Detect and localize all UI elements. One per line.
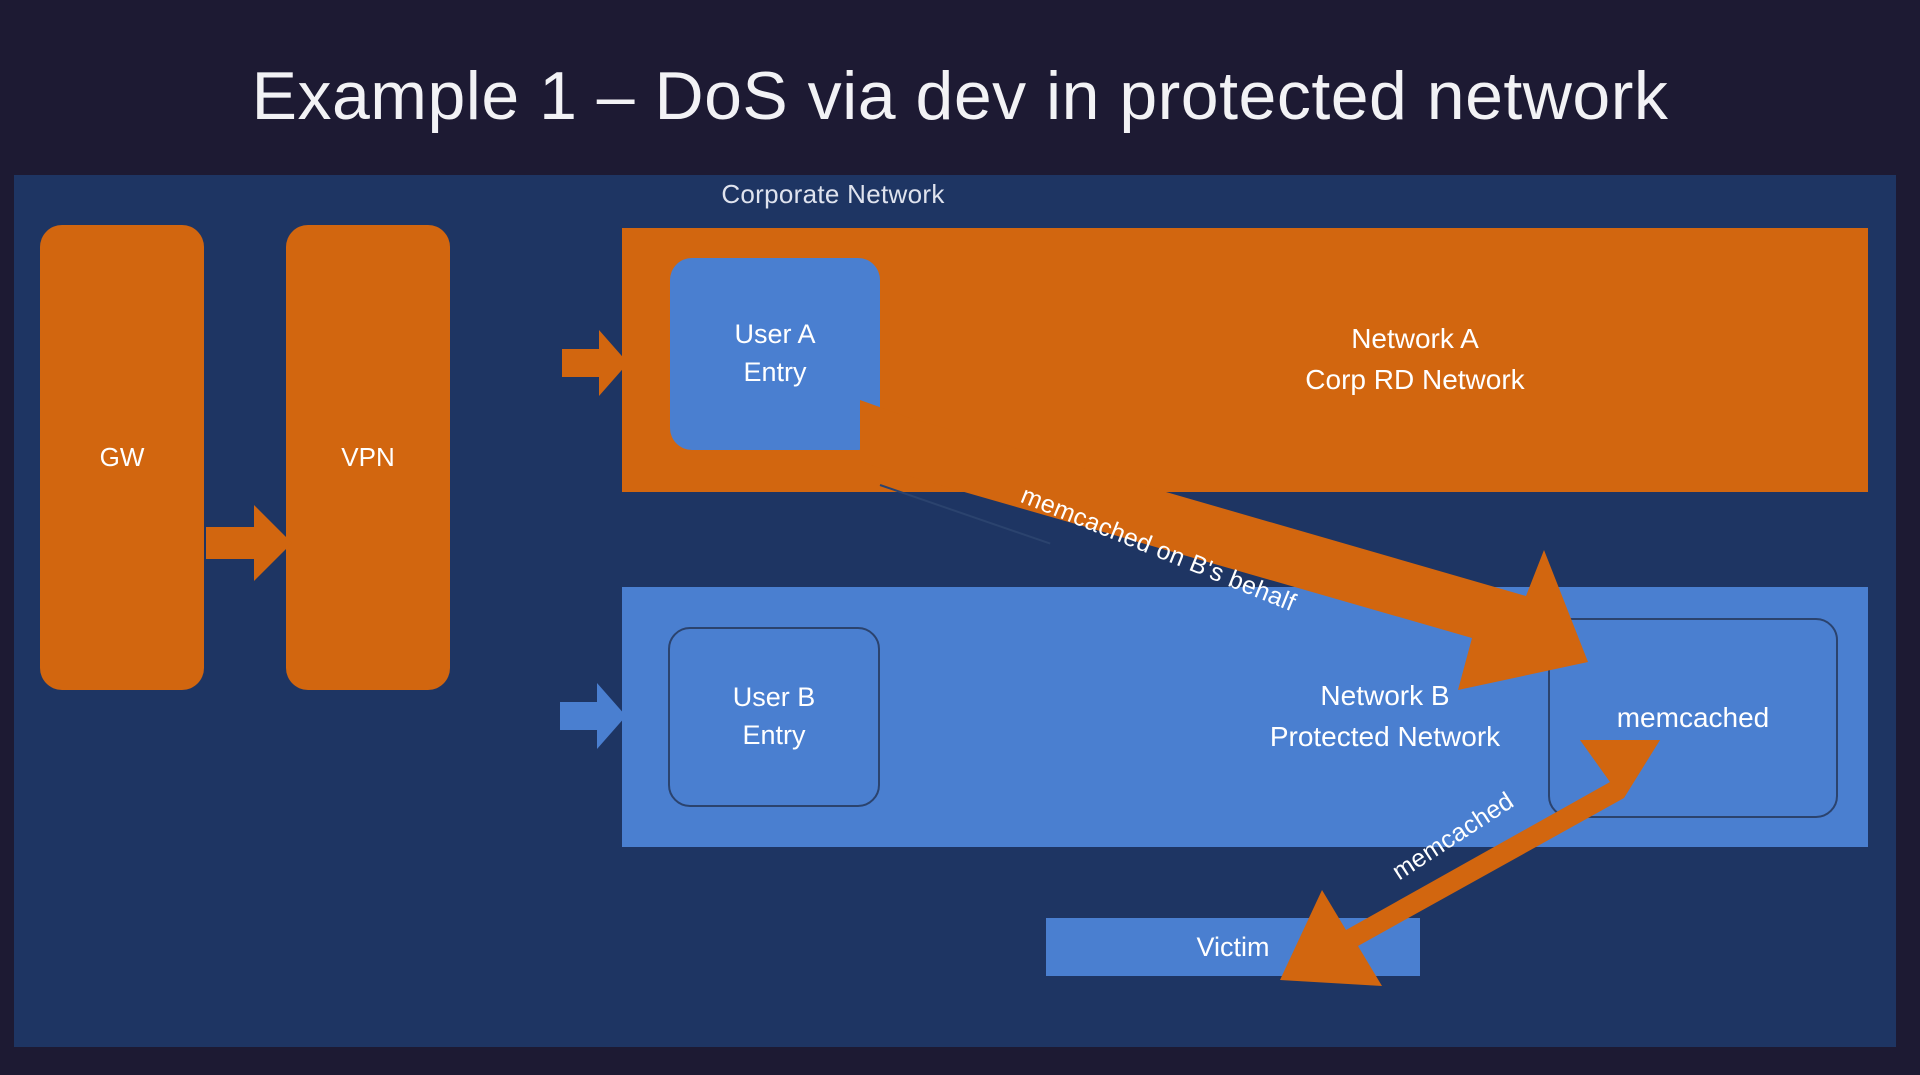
user-a-line1: User A: [734, 316, 815, 354]
right-arrow-icon: [206, 505, 292, 586]
network-b-subtitle: Protected Network: [1270, 717, 1500, 758]
node-gw[interactable]: GW: [40, 225, 204, 690]
right-arrow-icon: [562, 330, 628, 401]
network-a-label-group: Network A Corp RD Network: [792, 228, 1920, 492]
network-b-title: Network B: [1320, 676, 1449, 717]
right-arrow-icon: [560, 683, 626, 754]
victim-label: Victim: [1196, 932, 1269, 963]
user-a-line2: Entry: [743, 354, 806, 392]
corporate-network-label: Corporate Network: [0, 179, 1774, 210]
node-victim[interactable]: Victim: [1046, 918, 1420, 976]
node-vpn[interactable]: VPN: [286, 225, 450, 690]
node-user-b-entry[interactable]: User B Entry: [668, 627, 880, 807]
node-vpn-label: VPN: [341, 442, 394, 473]
memcached-label: memcached: [1617, 702, 1770, 734]
network-a-subtitle: Corp RD Network: [1305, 360, 1524, 401]
node-memcached[interactable]: memcached: [1548, 618, 1838, 818]
node-user-a-entry[interactable]: User A Entry: [670, 258, 880, 450]
node-gw-label: GW: [100, 442, 145, 473]
user-b-line1: User B: [733, 679, 816, 717]
page-title: Example 1 – DoS via dev in protected net…: [0, 62, 1920, 130]
user-b-line2: Entry: [742, 717, 805, 755]
network-a-title: Network A: [1351, 319, 1479, 360]
